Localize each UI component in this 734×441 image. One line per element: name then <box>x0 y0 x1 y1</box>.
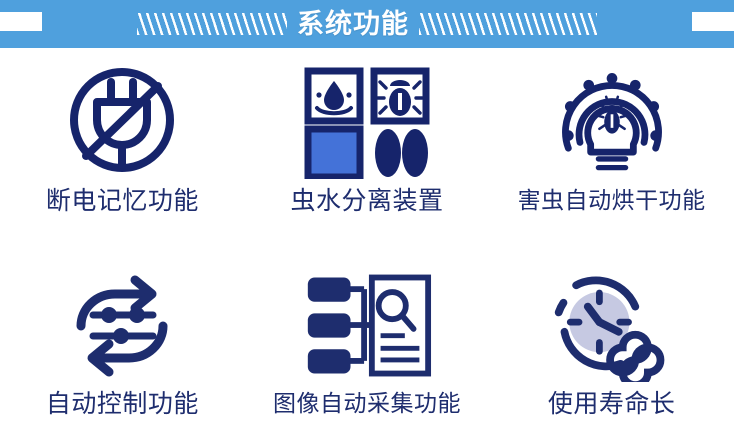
feature-item-insect-water-separation: 虫水分离装置 <box>245 48 490 245</box>
feature-item-auto-image-capture: 图像自动采集功能 <box>245 245 490 441</box>
feature-item-auto-control: 自动控制功能 <box>0 245 245 441</box>
feature-label: 图像自动采集功能 <box>273 391 461 416</box>
bug-lightbulb-drying-icon <box>547 64 677 182</box>
clock-infinity-icon <box>547 267 677 385</box>
document-magnifier-icon <box>302 267 432 385</box>
feature-item-power-outage-memory: 断电记忆功能 <box>0 48 245 245</box>
auto-control-sliders-icon <box>57 267 187 385</box>
feature-label: 虫水分离装置 <box>290 188 443 216</box>
page-header-banner: 系统功能 <box>0 0 734 48</box>
insect-water-separation-icon <box>302 64 432 182</box>
feature-label: 自动控制功能 <box>46 391 199 419</box>
feature-label: 断电记忆功能 <box>46 188 199 216</box>
page-title: 系统功能 <box>297 11 409 38</box>
feature-label: 使用寿命长 <box>548 391 676 419</box>
feature-label: 害虫自动烘干功能 <box>518 188 706 213</box>
feature-grid: 断电记忆功能 <box>0 48 734 441</box>
feature-item-auto-pest-drying: 害虫自动烘干功能 <box>489 48 734 245</box>
feature-item-long-service-life: 使用寿命长 <box>489 245 734 441</box>
no-power-plug-icon <box>57 64 187 182</box>
hatch-stripes-left-icon <box>137 13 287 35</box>
hatch-stripes-right-icon <box>419 13 597 35</box>
banner-content: 系统功能 <box>0 0 734 48</box>
